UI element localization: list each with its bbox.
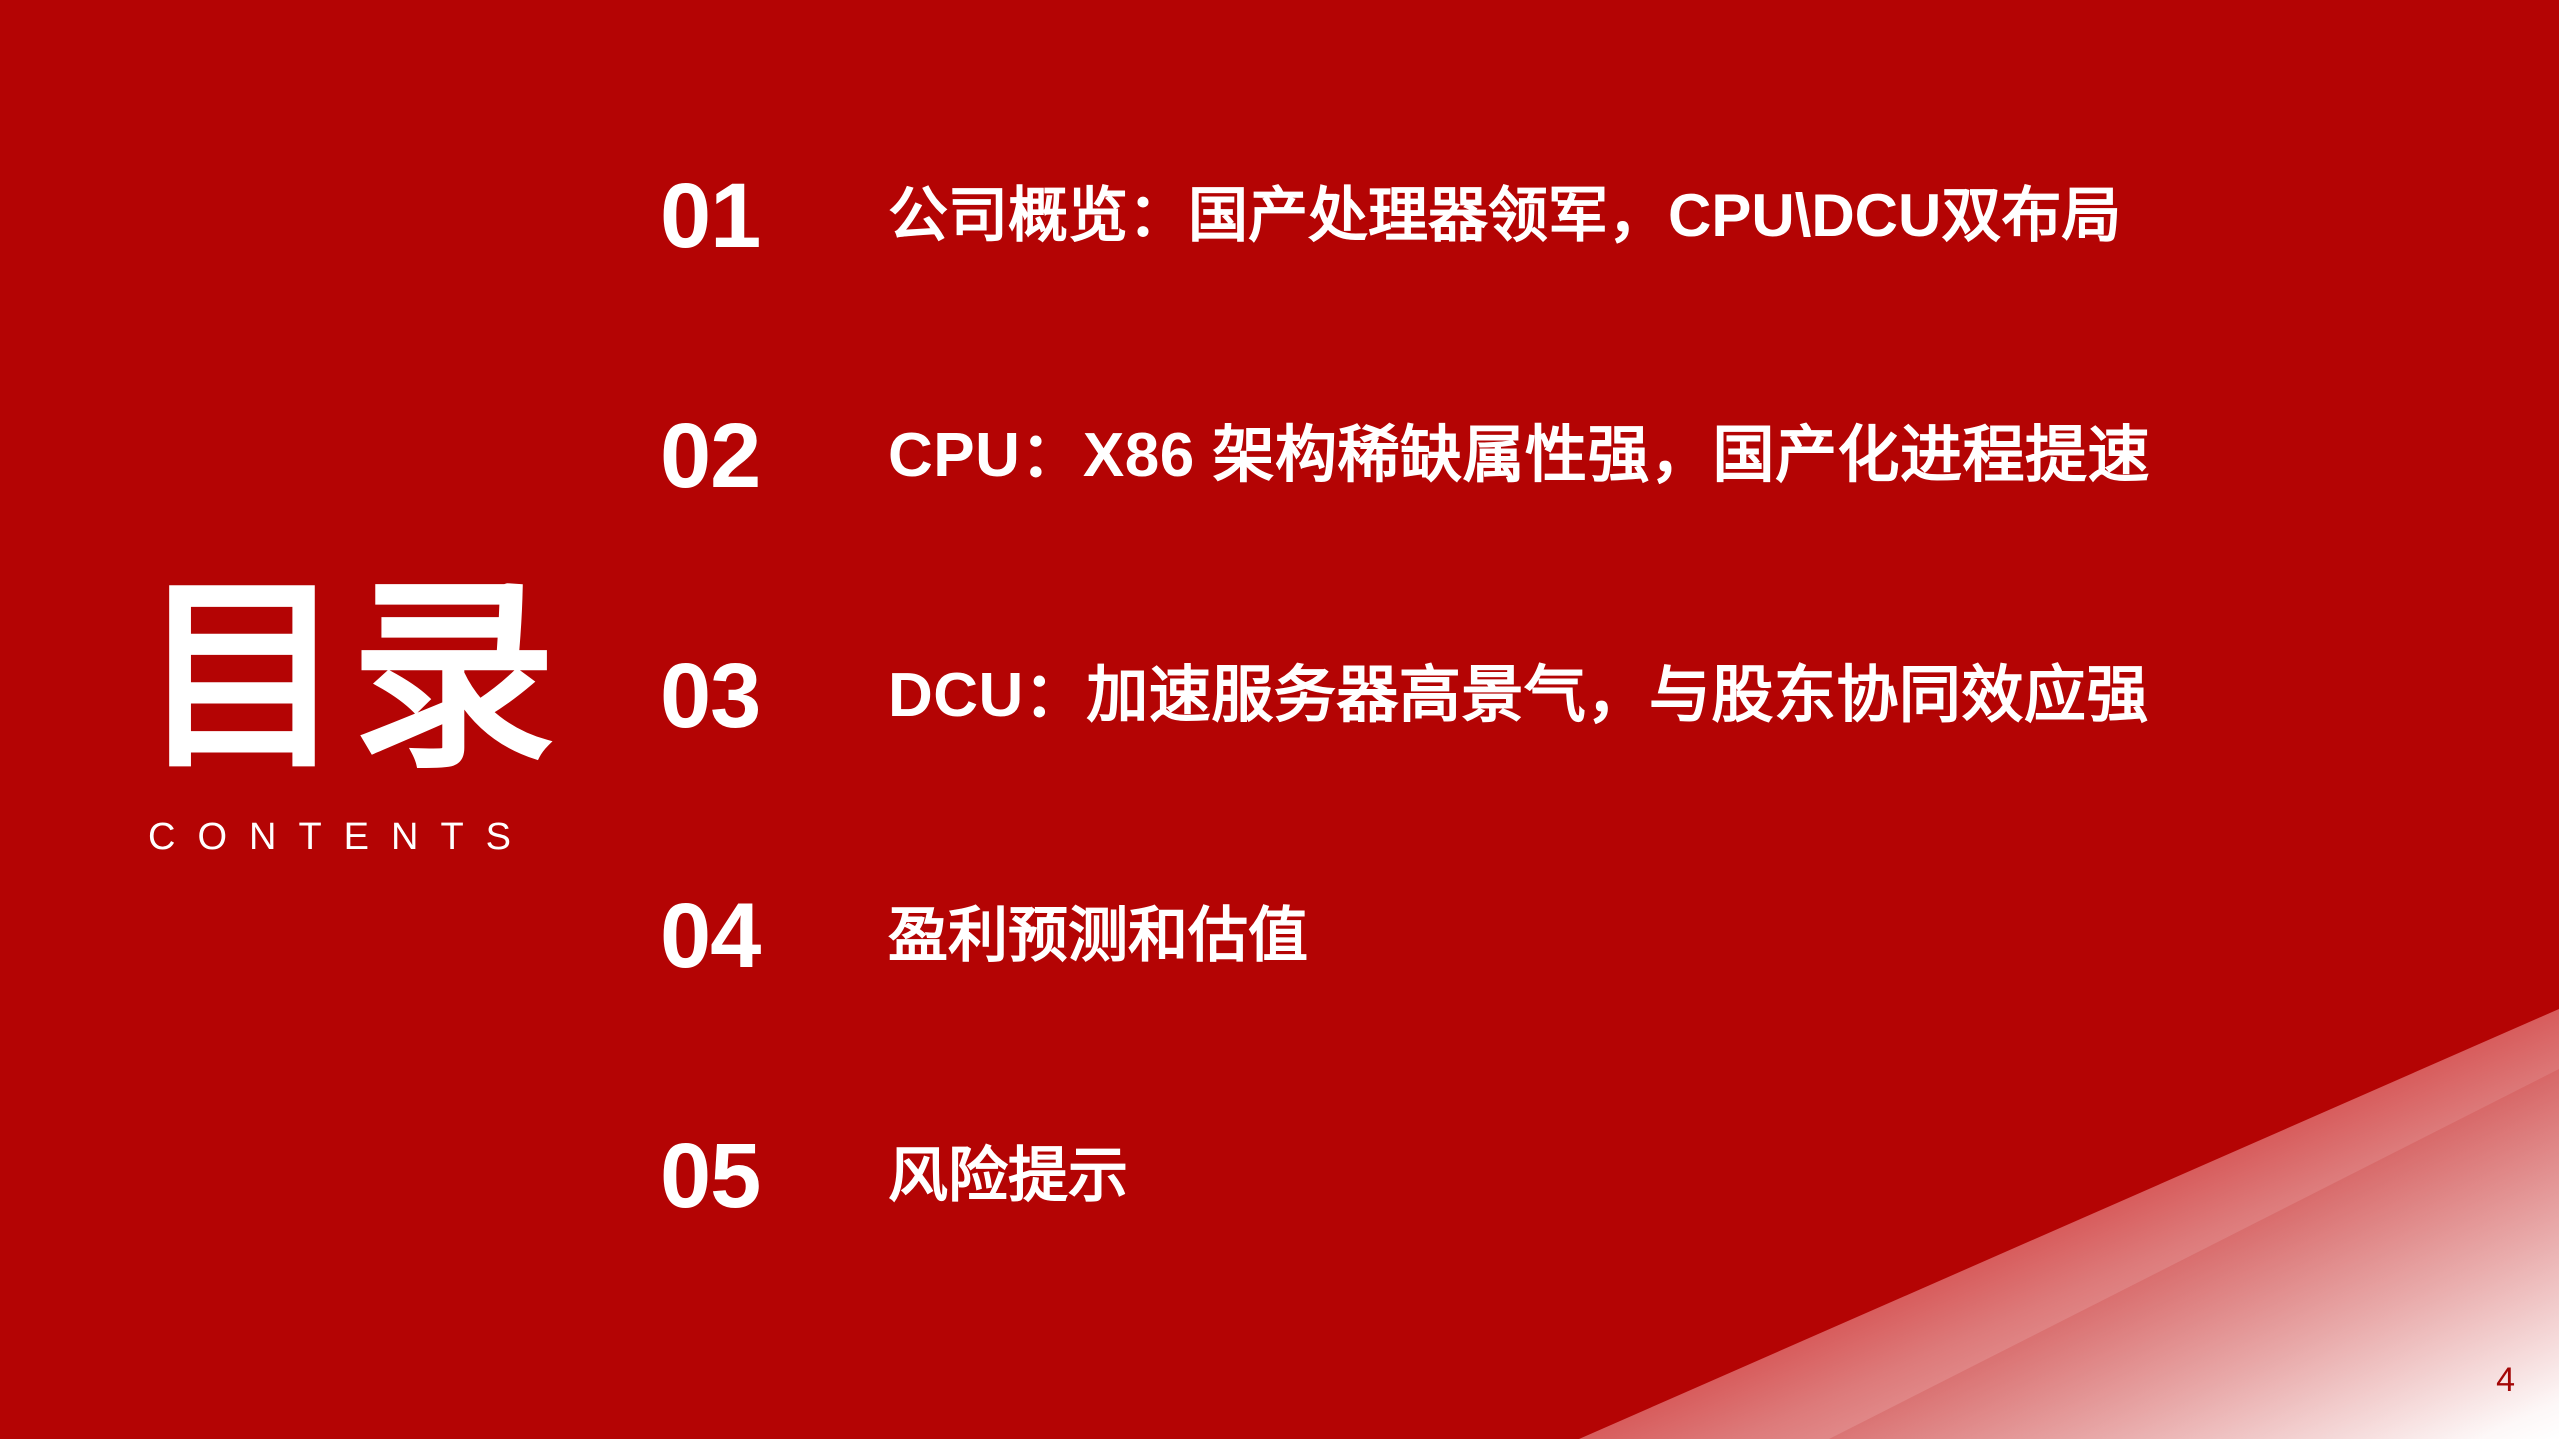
agenda-item-label: CPU：X86 架构稀缺属性强，国产化进程提速 [888,421,2460,490]
agenda-item-04[interactable]: 04 盈利预测和估值 [660,816,2460,1056]
agenda-item-02[interactable]: 02 CPU：X86 架构稀缺属性强，国产化进程提速 [660,336,2460,576]
agenda-item-01[interactable]: 01 公司概览：国产处理器领军，CPU\DCU双布局 [660,96,2460,336]
agenda-item-label: DCU：加速服务器高景气，与股东协同效应强 [888,661,2460,730]
agenda-item-label: 风险提示 [888,1142,2460,1209]
agenda-item-number: 05 [660,1130,888,1222]
agenda-list: 01 公司概览：国产处理器领军，CPU\DCU双布局 02 CPU：X86 架构… [660,96,2460,1296]
slide-canvas: 目录 CONTENTS 01 公司概览：国产处理器领军，CPU\DCU双布局 0… [0,0,2559,1439]
agenda-item-number: 03 [660,650,888,742]
agenda-item-number: 04 [660,890,888,982]
page-subtitle: CONTENTS [148,818,570,856]
agenda-item-number: 02 [660,410,888,502]
agenda-item-number: 01 [660,170,888,262]
page-number: 4 [2496,1363,2515,1397]
agenda-item-03[interactable]: 03 DCU：加速服务器高景气，与股东协同效应强 [660,576,2460,816]
contents-title-block: 目录 CONTENTS [140,575,570,856]
page-title: 目录 [140,575,570,780]
agenda-item-label: 盈利预测和估值 [888,902,2460,969]
agenda-item-05[interactable]: 05 风险提示 [660,1056,2460,1296]
agenda-item-label: 公司概览：国产处理器领军，CPU\DCU双布局 [888,182,2460,249]
